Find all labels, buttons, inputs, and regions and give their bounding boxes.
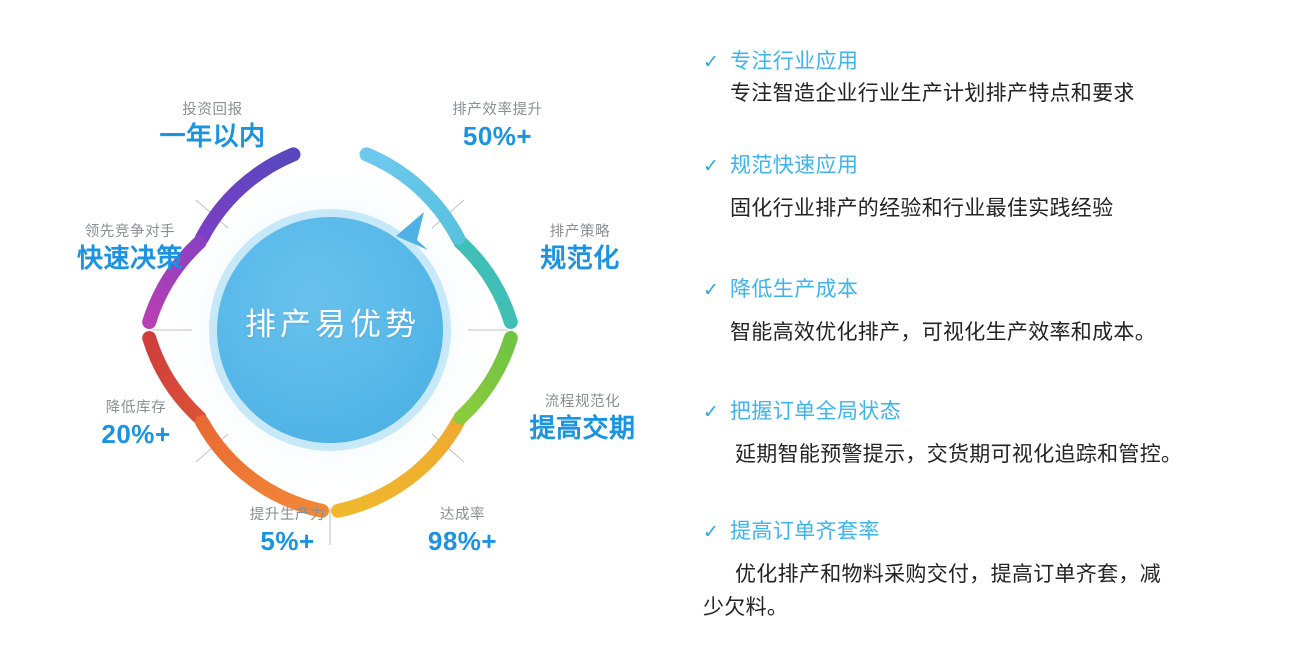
callout-speed: 领先竞争对手 快速决策 (40, 222, 220, 275)
bullet-description: 延期智能预警提示，交货期可视化追踪和管控。 (735, 438, 1288, 471)
callout-efficiency-caption: 排产效率提升 (415, 100, 580, 120)
bullet-description-line2: 少欠料。 (703, 591, 1288, 624)
bullet-head: ✓ 规范快速应用 (703, 152, 1288, 180)
check-icon: ✓ (703, 400, 719, 426)
list-item: ✓ 规范快速应用 固化行业排产的经验和行业最佳实践经验 (703, 152, 1288, 225)
callout-delivery-value: 提高交期 (505, 412, 660, 445)
bullet-title: 规范快速应用 (730, 152, 858, 180)
bullet-title: 提高订单齐套率 (730, 518, 880, 546)
center-title: 排产易优势 (245, 305, 415, 345)
callout-efficiency: 排产效率提升 50%+ (415, 100, 580, 153)
list-item: ✓ 提高订单齐套率 优化排产和物料采购交付，提高订单齐套，减 少欠料。 (703, 518, 1288, 624)
list-item: ✓ 把握订单全局状态 延期智能预警提示，交货期可视化追踪和管控。 (703, 398, 1288, 471)
check-icon: ✓ (703, 278, 719, 304)
callout-reach: 达成率 98%+ (385, 505, 540, 558)
callout-productivity-caption: 提升生产力 (210, 505, 365, 525)
callout-strategy-value: 规范化 (505, 242, 655, 275)
donut-infographic: 排产易优势 投资回报 一年以内 领先竞争对手 快速决策 降低库存 20%+ 提升… (0, 0, 660, 659)
callout-reach-caption: 达成率 (385, 505, 540, 525)
callout-speed-caption: 领先竞争对手 (40, 222, 220, 242)
bullet-title: 把握订单全局状态 (730, 398, 901, 426)
callout-strategy: 排产策略 规范化 (505, 222, 655, 275)
bullet-head: ✓ 降低生产成本 (703, 276, 1288, 304)
callout-productivity-value: 5%+ (210, 525, 365, 558)
callout-roi-value: 一年以内 (130, 120, 295, 153)
check-icon: ✓ (703, 154, 719, 180)
list-item: ✓ 降低生产成本 智能高效优化排产，可视化生产效率和成本。 (703, 276, 1288, 349)
callout-delivery-caption: 流程规范化 (505, 392, 660, 412)
callout-speed-value: 快速决策 (40, 242, 220, 275)
bullet-title: 降低生产成本 (730, 276, 858, 304)
benefits-list: ✓ 专注行业应用 专注智造企业行业生产计划排产特点和要求 ✓ 规范快速应用 固化… (703, 0, 1300, 659)
check-icon: ✓ (703, 50, 719, 76)
callout-strategy-caption: 排产策略 (505, 222, 655, 242)
callout-stock-caption: 降低库存 (52, 398, 220, 418)
callout-efficiency-value: 50%+ (415, 120, 580, 153)
list-item: ✓ 专注行业应用 专注智造企业行业生产计划排产特点和要求 (703, 48, 1288, 110)
callout-productivity: 提升生产力 5%+ (210, 505, 365, 558)
bullet-description: 固化行业排产的经验和行业最佳实践经验 (730, 192, 1288, 225)
bullet-description: 专注智造企业行业生产计划排产特点和要求 (730, 77, 1288, 110)
check-icon: ✓ (703, 520, 719, 546)
bullet-head: ✓ 提高订单齐套率 (703, 518, 1288, 546)
bullet-description: 优化排产和物料采购交付，提高订单齐套，减 少欠料。 (735, 558, 1288, 624)
bullet-description-line1: 优化排产和物料采购交付，提高订单齐套，减 (735, 563, 1161, 586)
bullet-head: ✓ 把握订单全局状态 (703, 398, 1288, 426)
callout-roi: 投资回报 一年以内 (130, 100, 295, 153)
callout-reach-value: 98%+ (385, 525, 540, 558)
callout-roi-caption: 投资回报 (130, 100, 295, 120)
callout-delivery: 流程规范化 提高交期 (505, 392, 660, 445)
bullet-head: ✓ 专注行业应用 (703, 48, 1288, 76)
callout-stock: 降低库存 20%+ (52, 398, 220, 451)
callout-stock-value: 20%+ (52, 418, 220, 451)
bullet-title: 专注行业应用 (730, 48, 858, 76)
bullet-description: 智能高效优化排产，可视化生产效率和成本。 (730, 316, 1288, 349)
